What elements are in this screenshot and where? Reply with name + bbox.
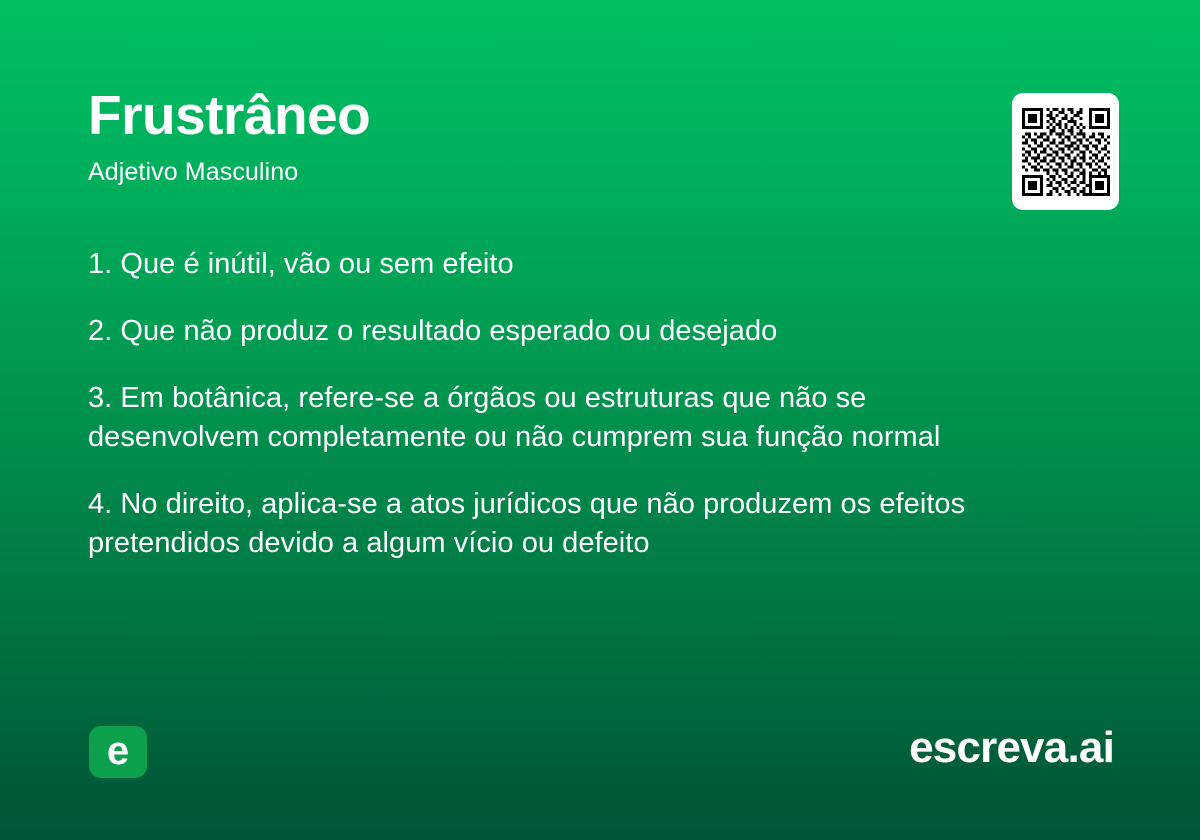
brand-wordmark: escreva.ai (909, 722, 1114, 775)
list-item: 3. Em botânica, refere-se a órgãos ou es… (88, 379, 1040, 457)
qr-code-card[interactable] (1012, 93, 1119, 210)
list-item: 2. Que não produz o resultado esperado o… (88, 312, 1040, 351)
brand-logo-icon: e (89, 726, 147, 778)
page-title: Frustrâneo (88, 86, 968, 145)
word-class-label: Adjetivo Masculino (88, 157, 968, 187)
brand-logo-letter: e (107, 731, 129, 771)
card-header: Frustrâneo Adjetivo Masculino (88, 86, 968, 187)
definition-list: 1. Que é inútil, vão ou sem efeito 2. Qu… (88, 245, 1040, 563)
list-item: 4. No direito, aplica-se a atos jurídico… (88, 485, 1040, 563)
list-item: 1. Que é inútil, vão ou sem efeito (88, 245, 1040, 284)
qr-code-icon (1022, 108, 1110, 196)
word-definition-card: Frustrâneo Adjetivo Masculino (0, 0, 1200, 840)
